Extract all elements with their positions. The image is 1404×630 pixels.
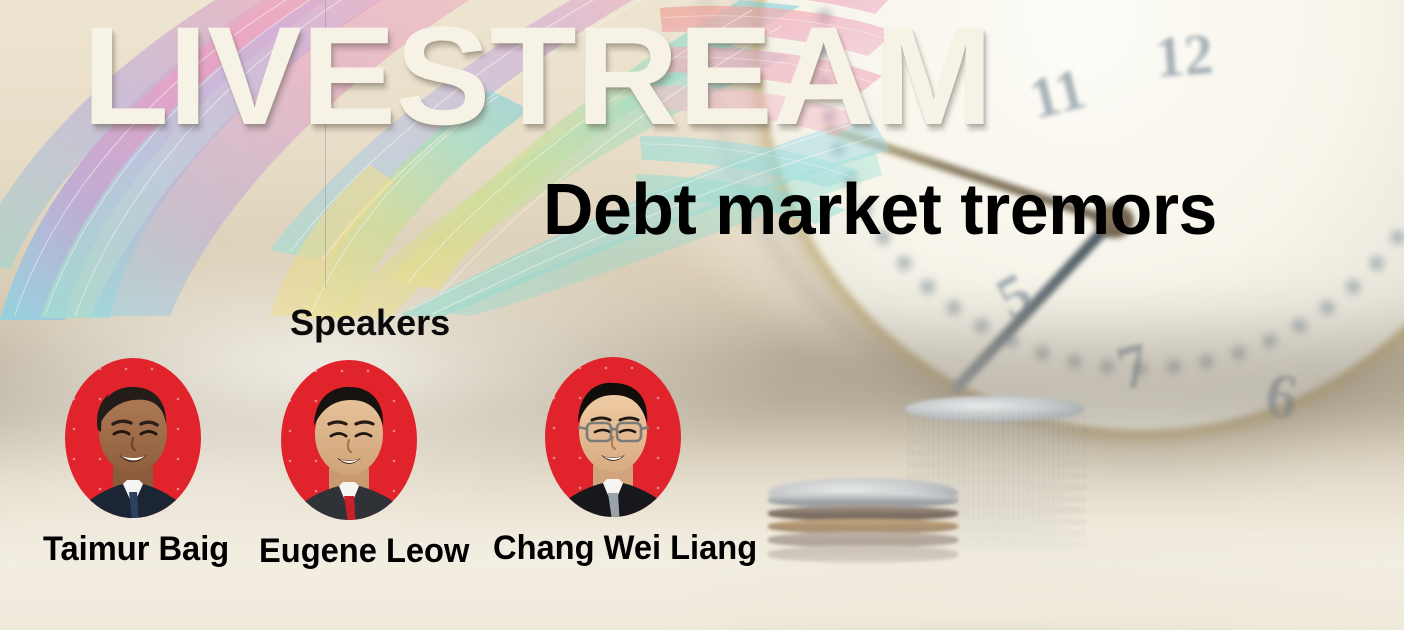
speaker-portrait-2 — [545, 357, 681, 527]
livestream-banner: 11 12 5 6 7 — [0, 0, 1404, 630]
speaker-name-1: Eugene Leow — [259, 534, 469, 568]
speaker-name-0: Taimur Baig — [43, 532, 229, 566]
speaker-list: Taimur Baig — [0, 0, 1404, 630]
speaker-portrait-0 — [65, 358, 201, 528]
speaker-portrait-1 — [281, 360, 417, 530]
speaker-name-2: Chang Wei Liang — [493, 531, 757, 565]
